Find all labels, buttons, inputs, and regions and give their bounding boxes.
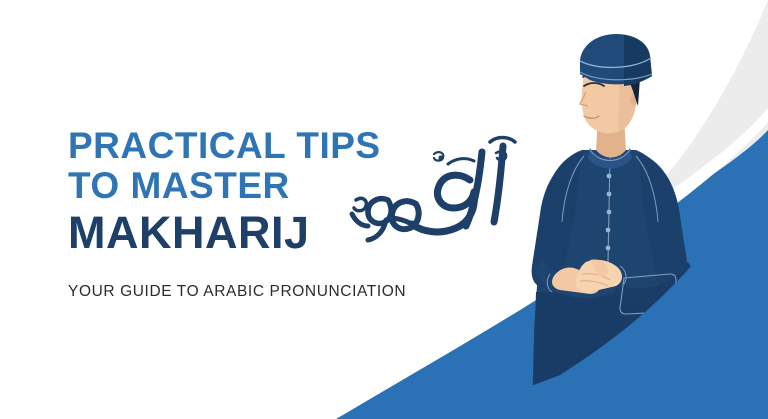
illustration-muslim-man <box>520 30 740 419</box>
robe-lower-panel <box>532 292 670 419</box>
subtitle: YOUR GUIDE TO ARABIC PRONUNCIATION <box>68 283 406 301</box>
robe-button <box>607 174 612 179</box>
headline-line-1: PRACTICAL TIPS <box>68 126 398 166</box>
glyph-alif <box>494 146 503 222</box>
banner-root: PRACTICAL TIPS TO MASTER MAKHARIJ YOUR G… <box>0 0 768 419</box>
glyph-ain <box>437 175 474 208</box>
robe-button <box>606 228 611 233</box>
robe-button <box>606 246 611 251</box>
headline-line-2: TO MASTER <box>68 166 398 206</box>
robe-button <box>607 192 612 197</box>
glyph-fatha <box>448 159 474 164</box>
headline-block: PRACTICAL TIPS TO MASTER MAKHARIJ <box>68 126 398 258</box>
headline-line-3: MAKHARIJ <box>68 208 398 258</box>
glyph-maddah <box>490 138 515 143</box>
robe-button <box>607 210 612 215</box>
